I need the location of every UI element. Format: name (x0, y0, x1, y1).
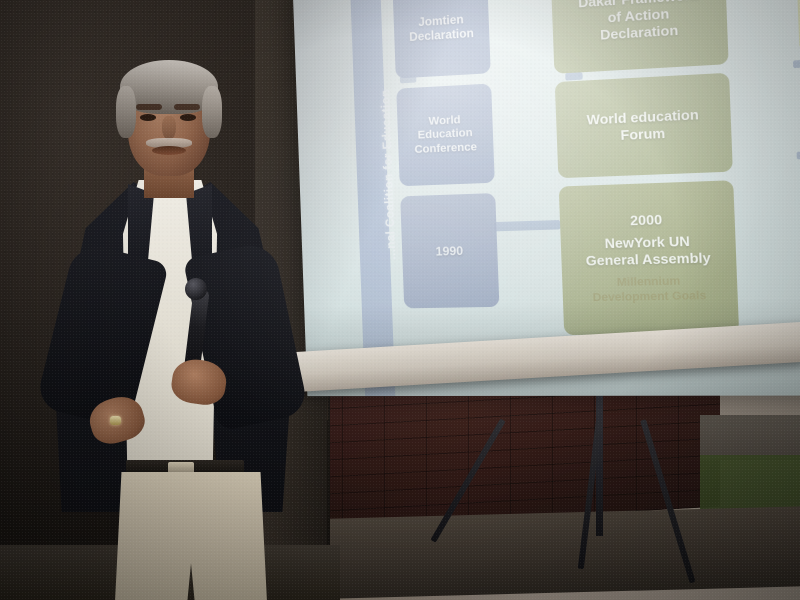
eyebrow-left (136, 104, 162, 110)
node-line: Forum (620, 125, 665, 144)
floor (280, 506, 800, 600)
slide-node-1990: 1990 (400, 193, 499, 308)
node-line: NewYork UN (604, 233, 690, 252)
node-line: Declaration (409, 27, 474, 45)
finger-ring (110, 416, 121, 425)
slide-node-2000-un-general-assembly: 2000 NewYork UN General Assembly Millenn… (559, 180, 739, 335)
hair-side-left (116, 86, 136, 138)
node-line: Conference (414, 141, 477, 157)
connector-right-middle (796, 150, 800, 160)
mouth (152, 146, 186, 155)
node-line: General Assembly (585, 249, 711, 269)
connector-dakar-to-forum (565, 72, 583, 80)
grey-wall-panel (700, 415, 800, 460)
node-subline: Millennium (617, 275, 681, 291)
connector-right-lower (793, 58, 800, 68)
nose (162, 116, 176, 140)
eye-right (180, 114, 196, 121)
eye-left (140, 114, 156, 121)
node-line: 1990 (435, 243, 463, 259)
presenter (40, 60, 305, 600)
trousers (112, 472, 270, 600)
eyebrow-right (174, 104, 200, 110)
node-line: Declaration (600, 22, 679, 44)
hair-side-right (202, 86, 222, 138)
slide-sidebar: ...nal Coalition for Education (350, 0, 396, 396)
slide-node-world-education-forum: World education Forum (555, 73, 733, 179)
slide-node-world-education-conference: World Education Conference (396, 84, 495, 187)
connector-1990-to-2000 (494, 220, 560, 231)
slide-node-jomtien: Jomtien Declaration (392, 0, 490, 79)
slide-node-dakar-framework: Dakar Framework of Action Declaration (551, 0, 729, 74)
photograph: ...nal Coalition for Education Jomtien D… (0, 0, 800, 600)
node-line: 2000 (630, 212, 663, 230)
slide-node-right-top (796, 0, 800, 54)
tripod-stand-pole (596, 386, 603, 536)
node-subline: Development Goals (593, 290, 707, 307)
